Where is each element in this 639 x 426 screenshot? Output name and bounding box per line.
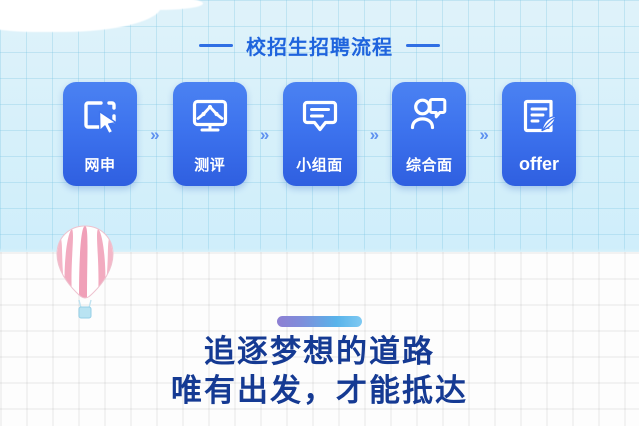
flow-step-final-interview[interactable]: 综合面 (392, 82, 466, 186)
section-title: 校招生招聘流程 (0, 30, 639, 60)
slogan-block: 追逐梦想的道路 唯有出发，才能抵达 (0, 332, 639, 410)
page-title: 校招生招聘流程 (246, 31, 393, 60)
cursor-click-icon (78, 94, 122, 138)
slogan-line-1: 追逐梦想的道路 (0, 332, 639, 371)
monitor-chart-icon (188, 94, 232, 138)
flow-step-offer[interactable]: offer (502, 82, 576, 186)
flow-step-assessment[interactable]: 测评 (173, 82, 247, 186)
chevron-right-icon-1: » (150, 126, 159, 143)
chevron-right-icon-2: » (260, 126, 269, 143)
flow-step-label: 综合面 (392, 154, 466, 175)
document-feather-icon (517, 94, 561, 138)
person-speech-icon (407, 94, 451, 138)
flow-step-label: 测评 (173, 154, 247, 175)
flow-step-group-interview[interactable]: 小组面 (283, 82, 357, 186)
flow-step-online-application[interactable]: 网申 (63, 82, 137, 186)
title-rule-left-icon (199, 44, 233, 47)
chevron-right-icon-4: » (479, 126, 488, 143)
flow-step-label: 网申 (63, 154, 137, 175)
flow-step-label: offer (502, 154, 576, 175)
title-rule-right-icon (406, 44, 440, 47)
chevron-right-icon-3: » (370, 126, 379, 143)
hot-air-balloon-icon (52, 224, 118, 328)
flow-step-label: 小组面 (283, 154, 357, 175)
poster-canvas: 校招生招聘流程 网申 » (0, 0, 639, 426)
slogan-divider (277, 316, 362, 327)
slogan-line-2: 唯有出发，才能抵达 (0, 371, 639, 410)
speech-bubble-icon (298, 94, 342, 138)
recruitment-flow: 网申 » 测评 » (63, 82, 576, 186)
